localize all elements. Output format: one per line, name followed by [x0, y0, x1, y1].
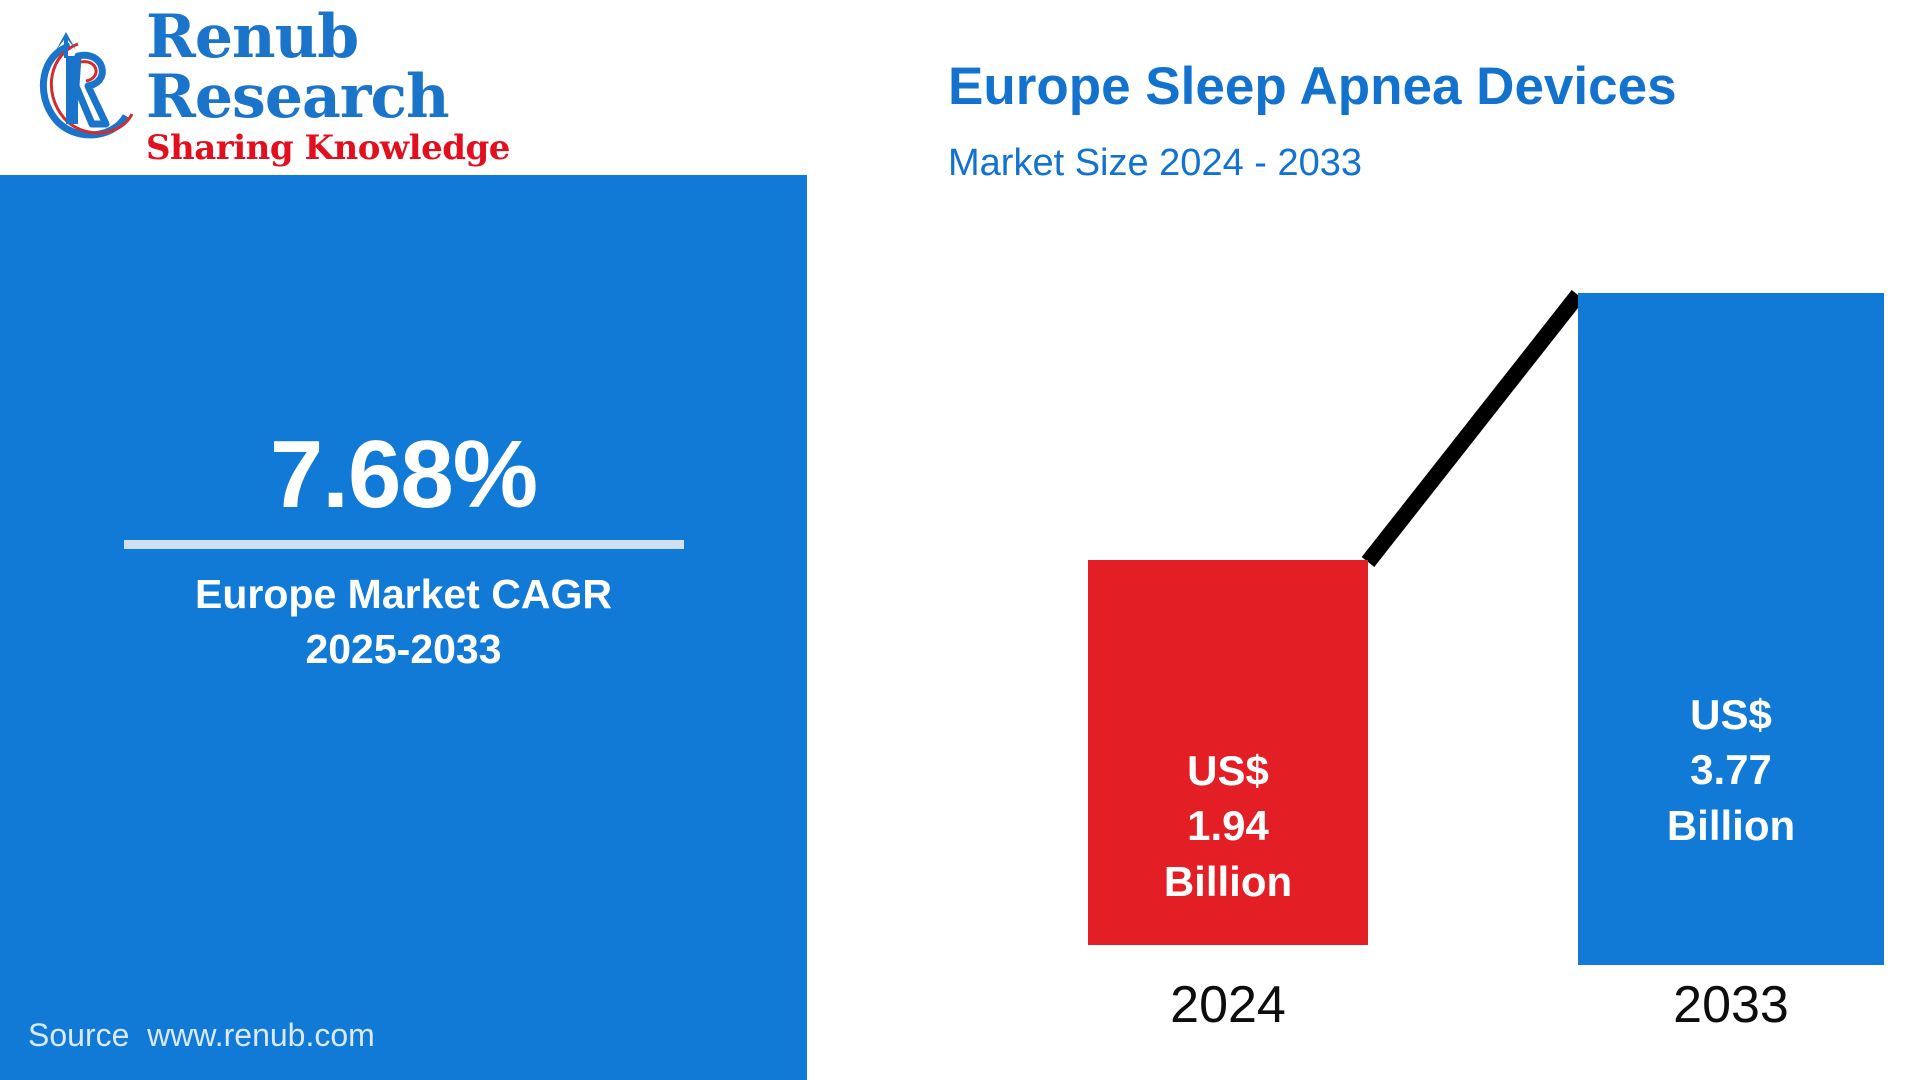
bar-2033-unit: Billion [1667, 798, 1795, 853]
bar-2024[interactable]: US$ 1.94 Billion [1088, 560, 1368, 945]
bar-2024-currency: US$ [1187, 743, 1269, 798]
cagr-label-line-1: Europe Market CAGR [0, 567, 807, 622]
page-title: Europe Sleep Apnea Devices [948, 56, 1677, 117]
cagr-panel: 7.68% Europe Market CAGR 2025-2033 Sourc… [0, 175, 807, 1080]
bar-2033-amount: 3.77 [1690, 742, 1772, 797]
brand-tagline: Sharing Knowledge [146, 129, 666, 168]
cagr-divider [124, 540, 684, 549]
source-text: Source www.renub.com [28, 1017, 375, 1054]
axis-label-2033: 2033 [1578, 975, 1884, 1035]
bar-2024-amount: 1.94 [1187, 798, 1269, 853]
axis-label-2024: 2024 [1088, 975, 1368, 1035]
bar-2024-unit: Billion [1164, 854, 1292, 909]
page-subtitle: Market Size 2024 - 2033 [948, 142, 1362, 185]
cagr-label-line-2: 2025-2033 [0, 622, 807, 677]
brand-text: Renub Research Sharing Knowledge [146, 7, 666, 168]
brand-name: Renub Research [146, 7, 666, 127]
cagr-value: 7.68% [0, 425, 807, 526]
r-arrow-swoosh-logo-icon [26, 28, 138, 148]
bar-2033-currency: US$ [1690, 687, 1772, 742]
bar-2033[interactable]: US$ 3.77 Billion [1578, 293, 1884, 965]
brand-logo[interactable]: Renub Research Sharing Knowledge [26, 18, 666, 158]
cagr-stack: 7.68% Europe Market CAGR 2025-2033 [0, 425, 807, 677]
